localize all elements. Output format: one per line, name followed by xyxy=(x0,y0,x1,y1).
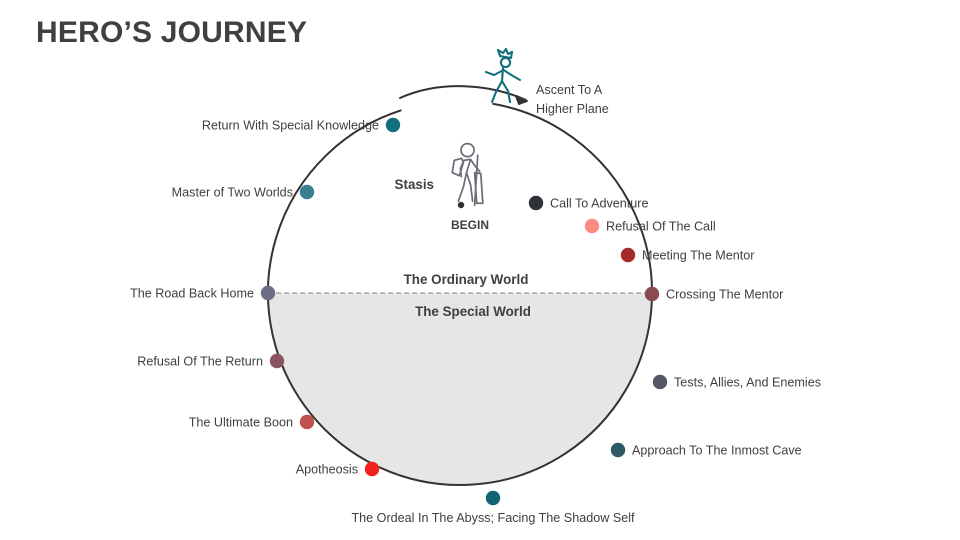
hiker-icon xyxy=(452,144,483,206)
journey-node-label: Call To Adventure xyxy=(550,197,648,211)
journey-node-dot[interactable] xyxy=(270,354,284,368)
journey-node-label: Refusal Of The Return xyxy=(137,355,263,369)
journey-node[interactable]: Crossing The Mentor xyxy=(645,287,784,302)
crowned-walking-figure-icon xyxy=(486,49,520,102)
journey-node-label: Meeting The Mentor xyxy=(642,249,754,263)
journey-node-label: Refusal Of The Call xyxy=(606,220,716,234)
journey-node-label: Apotheosis xyxy=(296,463,358,477)
journey-node-dot[interactable] xyxy=(300,185,314,199)
journey-node-dot[interactable] xyxy=(621,248,635,262)
journey-node-dot[interactable] xyxy=(261,286,275,300)
journey-node-label: Master of Two Worlds xyxy=(172,186,293,200)
journey-node-dot[interactable] xyxy=(653,375,667,389)
journey-node[interactable]: Tests, Allies, And Enemies xyxy=(653,375,821,390)
journey-node-dot[interactable] xyxy=(486,491,500,505)
journey-node[interactable]: Refusal Of The Return xyxy=(137,354,284,369)
ordinary-world-label: The Ordinary World xyxy=(404,272,529,287)
journey-node[interactable]: Apotheosis xyxy=(296,462,380,477)
journey-node-dot[interactable] xyxy=(585,219,599,233)
journey-node-label: The Road Back Home xyxy=(130,287,254,301)
journey-node[interactable]: Refusal Of The Call xyxy=(585,219,716,234)
special-world-label: The Special World xyxy=(415,304,531,319)
journey-node-dot[interactable] xyxy=(365,462,379,476)
journey-node[interactable]: Call To Adventure xyxy=(529,196,649,211)
begin-dot xyxy=(458,202,464,208)
ascent-label-line1: Ascent To A xyxy=(536,83,603,97)
journey-node[interactable]: Master of Two Worlds xyxy=(172,185,315,200)
journey-node-label: The Ultimate Boon xyxy=(189,416,293,430)
journey-node-label: Approach To The Inmost Cave xyxy=(632,444,802,458)
journey-node-label: The Ordeal In The Abyss; Facing The Shad… xyxy=(351,511,635,525)
journey-node[interactable]: The Ordeal In The Abyss; Facing The Shad… xyxy=(351,491,635,525)
journey-node-label: Return With Special Knowledge xyxy=(202,119,379,133)
ascent-label-line2: Higher Plane xyxy=(536,102,609,116)
journey-node[interactable]: Return With Special Knowledge xyxy=(202,118,400,133)
journey-node[interactable]: The Road Back Home xyxy=(130,286,275,301)
heros-journey-diagram: The Ordinary World The Special World Sta… xyxy=(0,0,960,540)
journey-node[interactable]: The Ultimate Boon xyxy=(189,415,315,430)
journey-node-dot[interactable] xyxy=(611,443,625,457)
journey-node-dot[interactable] xyxy=(386,118,400,132)
journey-node[interactable]: Meeting The Mentor xyxy=(621,248,755,263)
journey-node[interactable]: Approach To The Inmost Cave xyxy=(611,443,802,458)
stasis-label: Stasis xyxy=(395,177,434,192)
begin-label: BEGIN xyxy=(451,218,489,232)
journey-node-label: Tests, Allies, And Enemies xyxy=(674,376,821,390)
journey-node-label: Crossing The Mentor xyxy=(666,288,783,302)
journey-node-dot[interactable] xyxy=(300,415,314,429)
journey-node-dot[interactable] xyxy=(645,287,659,301)
journey-node-dot[interactable] xyxy=(529,196,543,210)
special-world-region xyxy=(268,293,652,485)
slide-canvas: HERO’S JOURNEY The Ordinary World The Sp… xyxy=(0,0,960,540)
